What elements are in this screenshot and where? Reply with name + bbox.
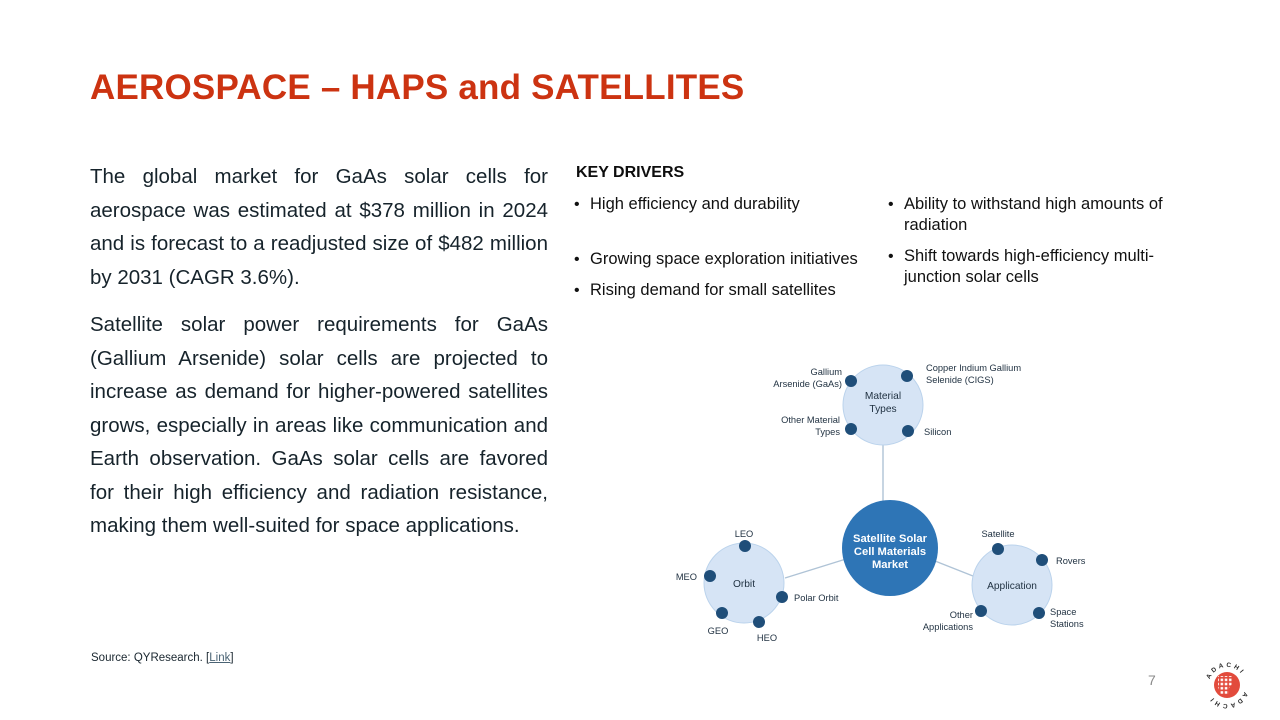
key-driver-item: • Growing space exploration initiatives — [572, 249, 872, 270]
leaf-label-line: Applications — [923, 622, 973, 632]
leaf-label-line: Stations — [1050, 619, 1084, 629]
key-driver-label: Rising demand for small satellites — [590, 281, 836, 299]
key-driver-label: High efficiency and durability — [590, 195, 800, 213]
connector-hub-application — [935, 561, 978, 578]
key-driver-label: Shift towards high-efficiency multi-junc… — [904, 247, 1154, 286]
leaf-label-line: Other Material — [781, 415, 840, 425]
bullet-icon: • — [888, 246, 894, 267]
bullet-icon: • — [574, 249, 580, 270]
source-prefix: Source: QYResearch. [ — [91, 652, 209, 664]
leaf-dot-cigs — [901, 370, 913, 382]
adachi-logo-icon: ADACHI ADACHI — [1199, 657, 1255, 713]
leaf-dot-silicon — [902, 425, 914, 437]
branch-application: Application Satellite Rovers Space Stati… — [923, 529, 1086, 632]
key-driver-item: • Ability to withstand high amounts of r… — [886, 194, 1186, 236]
source-suffix: ] — [230, 652, 233, 664]
key-drivers-left-column: • High efficiency and durability • Growi… — [572, 194, 872, 311]
body-copy: The global market for GaAs solar cells f… — [90, 160, 548, 543]
hub-label-line: Market — [872, 559, 908, 571]
body-paragraph-1: The global market for GaAs solar cells f… — [90, 160, 548, 294]
bullet-icon: • — [574, 194, 580, 215]
page-title: AEROSPACE – HAPS and SATELLITES — [90, 68, 744, 108]
leaf-dot-satellite — [992, 543, 1004, 555]
leaf-label-line: Other — [950, 610, 973, 620]
branch-label-line: Application — [987, 581, 1037, 592]
leaf-label-line: Polar Orbit — [794, 593, 839, 603]
leaf-dot-geo — [716, 607, 728, 619]
leaf-label-line: Selenide (CIGS) — [926, 375, 994, 385]
leaf-dot-polar-orbit — [776, 591, 788, 603]
key-driver-item: • Shift towards high-efficiency multi-ju… — [886, 246, 1186, 288]
leaf-dot-space-stations — [1033, 607, 1045, 619]
leaf-label-line: Silicon — [924, 427, 951, 437]
leaf-dot-other-material-types — [845, 423, 857, 435]
leaf-dot-heo — [753, 616, 765, 628]
leaf-label-line: Arsenide (GaAs) — [773, 379, 842, 389]
key-drivers-heading: KEY DRIVERS — [576, 164, 684, 182]
leaf-dot-meo — [704, 570, 716, 582]
connector-hub-orbit — [785, 559, 846, 578]
leaf-label-line: MEO — [676, 572, 697, 582]
leaf-dot-other-applications — [975, 605, 987, 617]
satellite-solar-cell-market-diagram: Material Types Gallium Arsenide (GaAs) C… — [650, 350, 1170, 650]
leaf-label-line: Rovers — [1056, 556, 1086, 566]
hub-label-line: Satellite Solar — [853, 533, 928, 545]
leaf-label-line: Copper Indium Gallium — [926, 363, 1021, 373]
leaf-dot-rovers — [1036, 554, 1048, 566]
source-citation: Source: QYResearch. [Link] — [91, 652, 234, 664]
bullet-icon: • — [574, 280, 580, 301]
branch-material-types: Material Types Gallium Arsenide (GaAs) C… — [773, 363, 1021, 445]
branch-label-line: Types — [869, 404, 896, 415]
leaf-label-line: LEO — [735, 529, 754, 539]
branch-orbit: Orbit LEO MEO GEO HEO Polar Orbit — [676, 529, 839, 643]
body-paragraph-2: Satellite solar power requirements for G… — [90, 308, 548, 543]
page-number: 7 — [1148, 672, 1156, 688]
key-driver-label: Ability to withstand high amounts of rad… — [904, 195, 1163, 234]
leaf-dot-leo — [739, 540, 751, 552]
branch-label-line: Orbit — [733, 579, 755, 590]
leaf-label-line: Types — [815, 427, 840, 437]
leaf-label-line: GEO — [708, 626, 729, 636]
leaf-label-line: Gallium — [810, 367, 842, 377]
leaf-dot-gallium-arsenide — [845, 375, 857, 387]
leaf-label-line: HEO — [757, 633, 777, 643]
key-drivers-right-column: • Ability to withstand high amounts of r… — [886, 194, 1186, 298]
key-driver-label: Growing space exploration initiatives — [590, 250, 858, 268]
diagram-hub: Satellite Solar Cell Materials Market — [842, 500, 938, 596]
branch-label-line: Material — [865, 391, 901, 402]
bullet-icon: • — [888, 194, 894, 215]
leaf-label-line: Satellite — [981, 529, 1014, 539]
source-link[interactable]: Link — [209, 652, 230, 664]
hub-label-line: Cell Materials — [854, 546, 926, 558]
leaf-label-line: Space — [1050, 607, 1076, 617]
key-driver-item: • High efficiency and durability — [572, 194, 872, 215]
key-driver-item: • Rising demand for small satellites — [572, 280, 872, 301]
